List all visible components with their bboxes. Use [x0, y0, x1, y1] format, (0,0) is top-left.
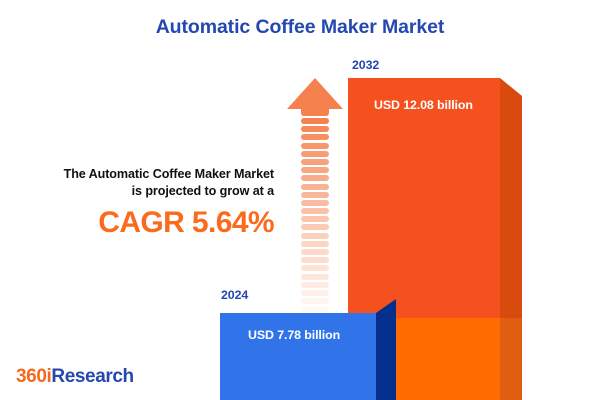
arrow-segment [301, 298, 329, 304]
arrow-segment [301, 233, 329, 239]
arrow-segment [301, 143, 329, 149]
arrow-segment [301, 257, 329, 263]
page-title: Automatic Coffee Maker Market [0, 16, 600, 39]
arrow-segment [301, 282, 329, 288]
growth-arrow-icon [287, 78, 343, 298]
bar-2032-value-label: USD 12.08 billion [374, 98, 473, 112]
arrow-up-head-icon [287, 78, 343, 109]
arrow-segment [301, 265, 329, 271]
arrow-segment [301, 118, 329, 124]
arrow-neck [301, 106, 329, 116]
bar-2032-year-label: 2032 [352, 58, 379, 72]
arrow-segment [301, 241, 329, 247]
statement-line-2: is projected to grow at a [12, 183, 274, 200]
arrow-segment [301, 200, 329, 206]
bar-2024-front [220, 313, 376, 400]
statement-line-1: The Automatic Coffee Maker Market [12, 166, 274, 183]
bar-2024-year-label: 2024 [221, 288, 248, 302]
logo-suffix: Research [51, 366, 133, 387]
bar-2024 [220, 313, 376, 400]
arrow-segment [301, 208, 329, 214]
arrow-segment [301, 192, 329, 198]
arrow-segment [301, 134, 329, 140]
cagr-statement: The Automatic Coffee Maker Market is pro… [12, 166, 274, 240]
arrow-segment [301, 175, 329, 181]
arrow-segment [301, 306, 329, 312]
arrow-segment-stack [301, 118, 329, 331]
arrow-segment [301, 151, 329, 157]
arrow-segment [301, 249, 329, 255]
logo-prefix: 360i [16, 366, 51, 387]
bar-2032-side-face [500, 78, 522, 400]
arrow-segment [301, 184, 329, 190]
cagr-value: CAGR 5.64% [12, 206, 274, 240]
market-growth-infographic: Automatic Coffee Maker Market The Automa… [0, 0, 600, 400]
arrow-segment [301, 126, 329, 132]
brand-logo: 360iResearch [16, 366, 134, 388]
arrow-segment [301, 167, 329, 173]
bar-2024-side-face [376, 299, 396, 400]
bar-2032-side-lower [500, 318, 522, 400]
arrow-segment [301, 274, 329, 280]
arrow-segment [301, 159, 329, 165]
arrow-segment [301, 290, 329, 296]
bar-2024-value-label: USD 7.78 billion [248, 328, 340, 342]
arrow-segment [301, 224, 329, 230]
arrow-segment [301, 216, 329, 222]
